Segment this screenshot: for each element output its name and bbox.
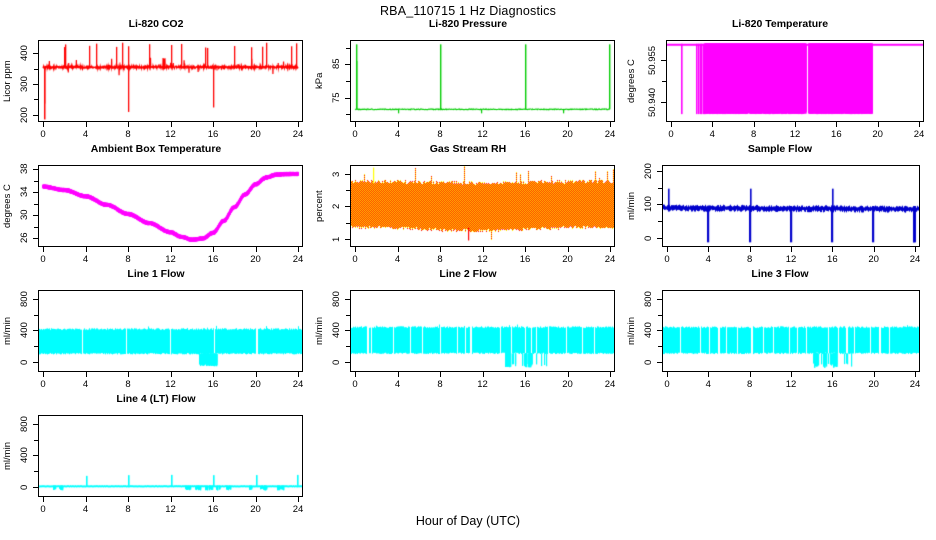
- x-tickmark: [708, 247, 709, 252]
- x-tick-label: 20: [554, 254, 582, 265]
- x-tick-label: 16: [511, 379, 539, 390]
- x-tick-label: 12: [157, 379, 185, 390]
- x-tickmark: [128, 247, 129, 252]
- x-tickmark: [832, 372, 833, 377]
- x-tick-label: 24: [901, 379, 929, 390]
- x-tickmark: [128, 497, 129, 502]
- y-axis-label-line-1-flow: ml/min: [2, 290, 14, 372]
- x-tick-label: 8: [426, 379, 454, 390]
- y-minor-tickmark: [658, 238, 662, 239]
- x-tickmark: [298, 497, 299, 502]
- x-tickmark: [483, 372, 484, 377]
- x-tick-label: 4: [694, 254, 722, 265]
- x-tickmark: [298, 122, 299, 127]
- x-tick-label: 4: [72, 379, 100, 390]
- x-tickmark: [671, 122, 672, 127]
- plot-canvas-gas-stream-rh: [351, 166, 614, 246]
- x-tickmark: [298, 247, 299, 252]
- y-axis-label-li820-temperature: degrees C: [626, 40, 638, 122]
- x-tick-label: 24: [284, 379, 312, 390]
- x-tick-label: 8: [114, 254, 142, 265]
- x-tickmark: [610, 122, 611, 127]
- y-axis-label-li820-co2: Licor ppm: [2, 40, 14, 122]
- y-tick-label: 38: [19, 147, 31, 191]
- y-minor-tickmark: [34, 455, 38, 456]
- y-tick-label: 3: [331, 152, 343, 196]
- x-tick-label: 16: [511, 129, 539, 140]
- x-tickmark: [298, 372, 299, 377]
- y-minor-tickmark: [34, 115, 38, 116]
- x-tickmark: [256, 497, 257, 502]
- x-tickmark: [355, 247, 356, 252]
- y-minor-tickmark: [34, 362, 38, 363]
- x-tickmark: [398, 247, 399, 252]
- y-minor-tickmark: [346, 330, 350, 331]
- y-minor-tickmark: [34, 330, 38, 331]
- x-tick-label: 8: [426, 254, 454, 265]
- x-tick-label: 4: [72, 254, 100, 265]
- panel-title-ambient-box-temperature: Ambient Box Temperature: [0, 143, 312, 155]
- plot-panel-line-1-flow: Line 1 Flow0400800ml/min04812162024: [0, 268, 312, 390]
- y-minor-tickmark: [346, 81, 350, 82]
- x-tickmark: [86, 247, 87, 252]
- y-minor-tickmark: [658, 362, 662, 363]
- x-tickmark: [256, 372, 257, 377]
- x-tickmark: [256, 247, 257, 252]
- x-tick-label: 4: [694, 379, 722, 390]
- x-tick-label: 16: [511, 254, 539, 265]
- panel-title-li820-temperature: Li-820 Temperature: [624, 18, 936, 30]
- x-tickmark: [256, 122, 257, 127]
- x-tick-label: 24: [905, 129, 933, 140]
- y-minor-tickmark: [34, 238, 38, 239]
- x-tick-label: 20: [860, 379, 888, 390]
- y-minor-tickmark: [34, 299, 38, 300]
- x-tickmark: [915, 247, 916, 252]
- x-tick-label: 12: [157, 254, 185, 265]
- y-minor-tickmark: [346, 48, 350, 49]
- y-minor-tickmark: [34, 99, 38, 100]
- x-tick-label: 0: [29, 379, 57, 390]
- x-tickmark: [708, 372, 709, 377]
- y-minor-tickmark: [658, 299, 662, 300]
- plot-canvas-sample-flow: [663, 166, 919, 246]
- x-tick-label: 24: [596, 254, 624, 265]
- y-axis-label-line-2-flow: ml/min: [314, 290, 326, 372]
- panel-title-li820-co2: Li-820 CO2: [0, 18, 312, 30]
- x-tickmark: [878, 122, 879, 127]
- x-tickmark: [86, 497, 87, 502]
- y-axis-label-line-4-lt-flow: ml/min: [2, 415, 14, 497]
- y-tick-label: 200: [643, 149, 655, 193]
- y-minor-tickmark: [346, 190, 350, 191]
- x-tickmark: [919, 122, 920, 127]
- x-tickmark: [440, 372, 441, 377]
- x-tickmark: [171, 247, 172, 252]
- x-tick-label: 0: [341, 129, 369, 140]
- y-minor-tickmark: [658, 221, 662, 222]
- plot-canvas-line-3-flow: [663, 291, 919, 371]
- x-tick-label: 16: [818, 379, 846, 390]
- x-tick-label: 0: [341, 379, 369, 390]
- panel-title-line-3-flow: Line 3 Flow: [624, 268, 936, 280]
- x-tick-label: 12: [777, 254, 805, 265]
- x-tick-label: 0: [29, 254, 57, 265]
- x-tick-label: 4: [384, 379, 412, 390]
- plot-panel-line-4-lt-flow: Line 4 (LT) Flow0400800ml/min04812162024: [0, 393, 312, 515]
- y-minor-tickmark: [34, 53, 38, 54]
- plot-panel-li820-co2: Li-820 CO2200300400Licor ppm04812162024: [0, 18, 312, 140]
- x-tickmark: [43, 247, 44, 252]
- x-tickmark: [398, 122, 399, 127]
- x-tickmark: [483, 122, 484, 127]
- x-tick-label: 16: [818, 254, 846, 265]
- y-minor-tickmark: [658, 171, 662, 172]
- x-tick-label: 24: [284, 254, 312, 265]
- y-minor-tickmark: [34, 181, 38, 182]
- x-tick-label: 8: [114, 129, 142, 140]
- x-tick-label: 16: [199, 379, 227, 390]
- y-minor-tickmark: [34, 424, 38, 425]
- x-tickmark: [791, 247, 792, 252]
- x-tick-label: 16: [822, 129, 850, 140]
- y-minor-tickmark: [346, 174, 350, 175]
- x-tickmark: [610, 247, 611, 252]
- x-tick-label: 12: [469, 129, 497, 140]
- x-tick-label: 24: [284, 129, 312, 140]
- y-minor-tickmark: [34, 84, 38, 85]
- y-minor-tickmark: [346, 346, 350, 347]
- y-tick-label: 85: [331, 42, 343, 86]
- x-tickmark: [398, 372, 399, 377]
- x-tick-label: 4: [384, 129, 412, 140]
- x-tick-label: 16: [199, 129, 227, 140]
- panel-title-sample-flow: Sample Flow: [624, 143, 936, 155]
- x-tickmark: [754, 122, 755, 127]
- x-tickmark: [795, 122, 796, 127]
- x-tick-label: 0: [653, 379, 681, 390]
- y-axis-label-ambient-box-temperature: degrees C: [2, 165, 14, 247]
- panel-title-li820-pressure: Li-820 Pressure: [312, 18, 624, 30]
- y-minor-tickmark: [346, 239, 350, 240]
- x-tickmark: [171, 372, 172, 377]
- x-tickmark: [213, 497, 214, 502]
- x-tick-label: 20: [860, 254, 888, 265]
- x-tickmark: [667, 372, 668, 377]
- x-tick-label: 20: [242, 254, 270, 265]
- x-tickmark: [832, 247, 833, 252]
- x-tick-label: 12: [781, 129, 809, 140]
- x-tick-label: 8: [740, 129, 768, 140]
- x-tick-label: 0: [657, 129, 685, 140]
- x-tickmark: [43, 372, 44, 377]
- y-minor-tickmark: [346, 362, 350, 363]
- x-tick-label: 8: [736, 379, 764, 390]
- x-tick-label: 24: [596, 379, 624, 390]
- x-tickmark: [355, 372, 356, 377]
- x-tickmark: [128, 372, 129, 377]
- y-tick-label: 800: [643, 277, 655, 321]
- y-minor-tickmark: [34, 169, 38, 170]
- x-tick-label: 12: [469, 254, 497, 265]
- x-tickmark: [750, 372, 751, 377]
- x-tickmark: [128, 122, 129, 127]
- x-tickmark: [836, 122, 837, 127]
- x-tick-label: 12: [469, 379, 497, 390]
- y-minor-tickmark: [658, 346, 662, 347]
- y-minor-tickmark: [662, 81, 666, 82]
- plot-canvas-line-4-lt-flow: [39, 416, 302, 496]
- x-tick-label: 20: [864, 129, 892, 140]
- x-tickmark: [86, 122, 87, 127]
- x-tick-label: 0: [29, 129, 57, 140]
- x-tick-label: 24: [901, 254, 929, 265]
- x-tickmark: [525, 122, 526, 127]
- x-tickmark: [483, 247, 484, 252]
- plot-canvas-line-1-flow: [39, 291, 302, 371]
- x-tickmark: [525, 372, 526, 377]
- plot-canvas-line-2-flow: [351, 291, 614, 371]
- y-minor-tickmark: [34, 204, 38, 205]
- y-axis-label-li820-pressure: kPa: [314, 40, 326, 122]
- panel-title-line-2-flow: Line 2 Flow: [312, 268, 624, 280]
- plot-panel-li820-temperature: Li-820 Temperature50.94050.955degrees C0…: [624, 18, 936, 140]
- y-minor-tickmark: [346, 315, 350, 316]
- x-tickmark: [171, 122, 172, 127]
- x-tickmark: [667, 247, 668, 252]
- plot-panel-sample-flow: Sample Flow0100200ml/min04812162024: [624, 143, 936, 265]
- y-minor-tickmark: [34, 440, 38, 441]
- x-tick-label: 20: [554, 379, 582, 390]
- x-tick-label: 8: [736, 254, 764, 265]
- y-minor-tickmark: [34, 69, 38, 70]
- x-tick-label: 8: [114, 379, 142, 390]
- y-tick-label: 800: [19, 402, 31, 446]
- x-tickmark: [43, 122, 44, 127]
- plot-panel-line-2-flow: Line 2 Flow0400800ml/min04812162024: [312, 268, 624, 390]
- y-tick-label: 50.940: [647, 80, 659, 124]
- x-tick-label: 20: [554, 129, 582, 140]
- y-minor-tickmark: [34, 315, 38, 316]
- x-tickmark: [440, 247, 441, 252]
- x-tickmark: [791, 372, 792, 377]
- x-tick-label: 8: [426, 129, 454, 140]
- x-tickmark: [750, 247, 751, 252]
- y-minor-tickmark: [346, 299, 350, 300]
- panel-title-gas-stream-rh: Gas Stream RH: [312, 143, 624, 155]
- y-axis-label-gas-stream-rh: percent: [314, 165, 326, 247]
- x-tick-label: 16: [199, 254, 227, 265]
- x-tick-label: 20: [242, 379, 270, 390]
- y-minor-tickmark: [658, 315, 662, 316]
- x-tickmark: [610, 372, 611, 377]
- y-minor-tickmark: [34, 192, 38, 193]
- y-minor-tickmark: [34, 471, 38, 472]
- x-tickmark: [213, 122, 214, 127]
- x-tick-label: 4: [698, 129, 726, 140]
- x-tickmark: [171, 497, 172, 502]
- x-tick-label: 4: [72, 129, 100, 140]
- x-tickmark: [86, 372, 87, 377]
- y-tick-label: 400: [19, 31, 31, 75]
- y-minor-tickmark: [346, 206, 350, 207]
- figure-title: RBA_110715 1 Hz Diagnostics: [0, 4, 936, 18]
- plot-canvas-li820-co2: [39, 41, 302, 121]
- panel-title-line-1-flow: Line 1 Flow: [0, 268, 312, 280]
- x-tick-label: 24: [596, 129, 624, 140]
- x-tick-label: 12: [157, 129, 185, 140]
- y-minor-tickmark: [34, 487, 38, 488]
- x-tickmark: [915, 372, 916, 377]
- y-minor-tickmark: [346, 114, 350, 115]
- y-minor-tickmark: [346, 98, 350, 99]
- plot-panel-ambient-box-temperature: Ambient Box Temperature26303438degrees C…: [0, 143, 312, 265]
- y-axis-label-line-3-flow: ml/min: [626, 290, 638, 372]
- y-minor-tickmark: [658, 330, 662, 331]
- y-minor-tickmark: [34, 227, 38, 228]
- panel-title-line-4-lt-flow: Line 4 (LT) Flow: [0, 393, 312, 405]
- x-tick-label: 12: [777, 379, 805, 390]
- plot-canvas-ambient-box-temperature: [39, 166, 302, 246]
- figure-xaxis-label: Hour of Day (UTC): [0, 514, 936, 528]
- x-tick-label: 20: [242, 129, 270, 140]
- x-tickmark: [568, 372, 569, 377]
- y-tick-label: 50.955: [647, 38, 659, 82]
- y-minor-tickmark: [658, 204, 662, 205]
- y-minor-tickmark: [662, 102, 666, 103]
- x-tickmark: [355, 122, 356, 127]
- x-tickmark: [874, 372, 875, 377]
- plot-panel-li820-pressure: Li-820 Pressure7585kPa04812162024: [312, 18, 624, 140]
- x-tickmark: [568, 247, 569, 252]
- y-tick-label: 800: [331, 277, 343, 321]
- y-axis-label-sample-flow: ml/min: [626, 165, 638, 247]
- x-tick-label: 4: [384, 254, 412, 265]
- x-tickmark: [568, 122, 569, 127]
- plot-panel-line-3-flow: Line 3 Flow0400800ml/min04812162024: [624, 268, 936, 390]
- y-minor-tickmark: [346, 64, 350, 65]
- x-tickmark: [440, 122, 441, 127]
- x-tick-label: 0: [653, 254, 681, 265]
- plot-panel-gas-stream-rh: Gas Stream RH123percent04812162024: [312, 143, 624, 265]
- x-tickmark: [213, 247, 214, 252]
- y-minor-tickmark: [662, 60, 666, 61]
- x-tick-label: 0: [341, 254, 369, 265]
- plot-canvas-li820-pressure: [351, 41, 614, 121]
- x-tickmark: [712, 122, 713, 127]
- y-minor-tickmark: [346, 223, 350, 224]
- x-tickmark: [213, 372, 214, 377]
- y-minor-tickmark: [34, 346, 38, 347]
- x-tickmark: [43, 497, 44, 502]
- x-tickmark: [874, 247, 875, 252]
- y-tick-label: 800: [19, 277, 31, 321]
- x-tickmark: [525, 247, 526, 252]
- y-minor-tickmark: [658, 188, 662, 189]
- plot-canvas-li820-temperature: [667, 41, 923, 121]
- y-minor-tickmark: [34, 215, 38, 216]
